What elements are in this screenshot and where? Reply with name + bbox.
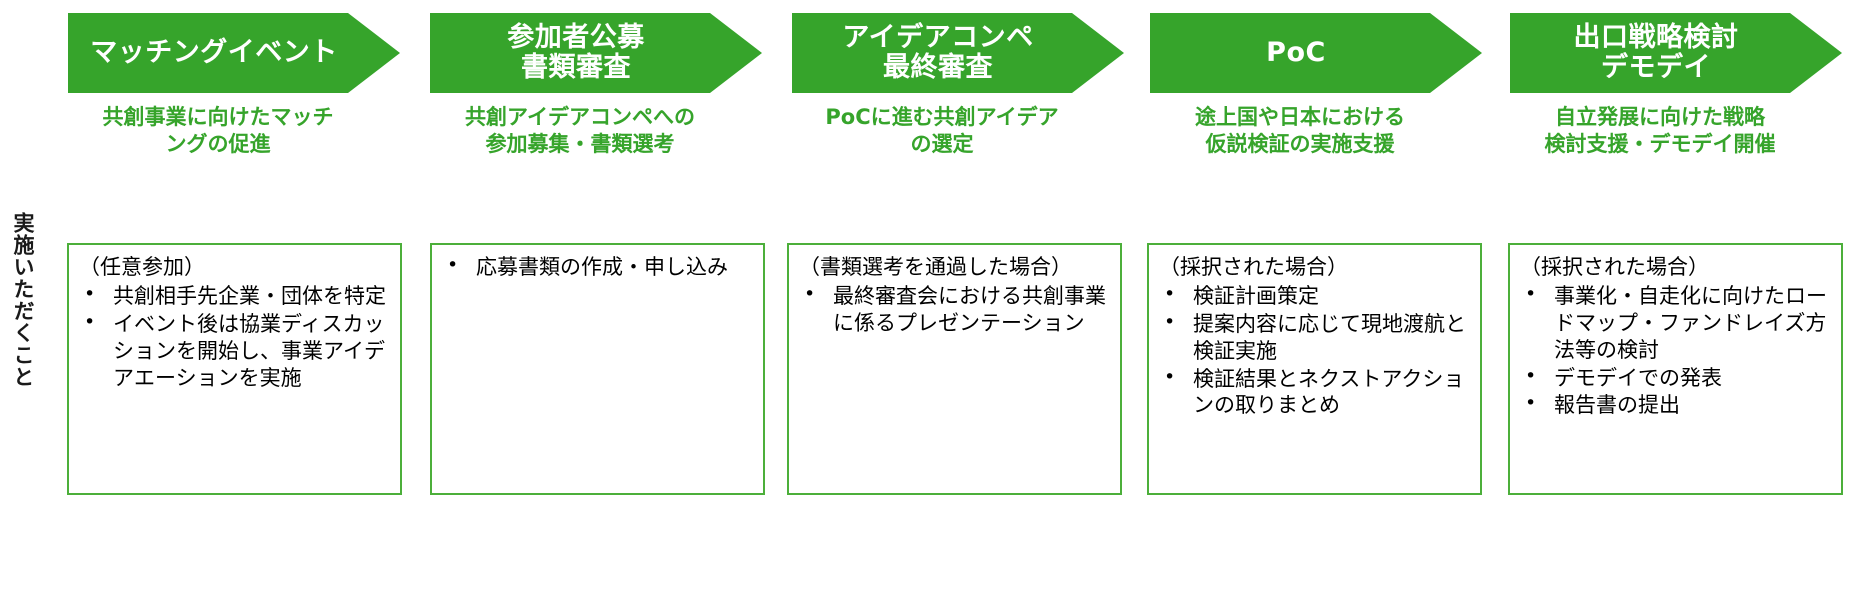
list-item: 提案内容に応じて現地渡航と検証実施 (1159, 311, 1474, 365)
list-item: 検証計画策定 (1159, 283, 1474, 310)
list-item: 報告書の提出 (1520, 392, 1835, 419)
process-flow-diagram: マッチングイベント 参加者公募 書類審査 アイデアコンペ 最終審査 PoC 出口… (0, 0, 1855, 602)
stage-content-box-1: （任意参加） 共創相手先企業・団体を特定 イベント後は協業ディスカッションを開始… (67, 243, 402, 495)
list-item: 事業化・自走化に向けたロードマップ・ファンドレイズ方法等の検討 (1520, 283, 1835, 364)
stage-chevron-label-1: マッチングイベント (90, 38, 378, 68)
stage-item-list-1: 共創相手先企業・団体を特定 イベント後は協業ディスカッションを開始し、事業アイデ… (79, 283, 394, 392)
list-item: 最終審査会における共創事業に係るプレゼンテーション (799, 283, 1114, 337)
stage-chevron-label-2: 参加者公募 書類審査 (507, 23, 685, 83)
stage-chevron-label-4: PoC (1266, 38, 1366, 68)
stage-subtitle-2: 共創アイデアコンペへの 参加募集・書類選考 (430, 104, 730, 159)
stage-subtitle-5: 自立発展に向けた戦略 検討支援・デモデイ開催 (1510, 104, 1810, 159)
stage-subtitle-3: PoCに進む共創アイデア の選定 (792, 104, 1092, 159)
list-item: 検証結果とネクストアクションの取りまとめ (1159, 366, 1474, 420)
stage-chevron-label-3: アイデアコンペ 最終審査 (842, 23, 1073, 83)
list-item: イベント後は協業ディスカッションを開始し、事業アイデアエーションを実施 (79, 311, 394, 392)
stage-chevron-1[interactable]: マッチングイベント (68, 13, 400, 93)
stage-content-box-5: （採択された場合） 事業化・自走化に向けたロードマップ・ファンドレイズ方法等の検… (1508, 243, 1843, 495)
stage-item-list-4: 検証計画策定 提案内容に応じて現地渡航と検証実施 検証結果とネクストアクションの… (1159, 283, 1474, 419)
stage-header-row: マッチングイベント 参加者公募 書類審査 アイデアコンペ 最終審査 PoC 出口… (0, 13, 1855, 93)
list-item: 共創相手先企業・団体を特定 (79, 283, 394, 310)
stage-lead-5: （採択された場合） (1520, 254, 1835, 281)
list-item: デモデイでの発表 (1520, 365, 1835, 392)
list-item: 応募書類の作成・申し込み (442, 254, 757, 281)
stage-subtitle-4: 途上国や日本における 仮説検証の実施支援 (1150, 104, 1450, 159)
stage-item-list-2: 応募書類の作成・申し込み (442, 254, 757, 281)
stage-item-list-3: 最終審査会における共創事業に係るプレゼンテーション (799, 283, 1114, 337)
stage-chevron-label-5: 出口戦略検討 デモデイ (1574, 23, 1779, 83)
row-label-activities: 実施いただくこと (2, 212, 36, 388)
stage-chevron-5[interactable]: 出口戦略検討 デモデイ (1510, 13, 1842, 93)
stage-chevron-3[interactable]: アイデアコンペ 最終審査 (792, 13, 1124, 93)
stage-lead-4: （採択された場合） (1159, 254, 1474, 281)
stage-content-box-4: （採択された場合） 検証計画策定 提案内容に応じて現地渡航と検証実施 検証結果と… (1147, 243, 1482, 495)
stage-lead-3: （書類選考を通過した場合） (799, 254, 1114, 281)
stage-item-list-5: 事業化・自走化に向けたロードマップ・ファンドレイズ方法等の検討 デモデイでの発表… (1520, 283, 1835, 419)
stage-chevron-4[interactable]: PoC (1150, 13, 1482, 93)
stage-content-box-2: 応募書類の作成・申し込み (430, 243, 765, 495)
stage-subtitle-1: 共創事業に向けたマッチ ングの促進 (68, 104, 368, 159)
stage-lead-1: （任意参加） (79, 254, 394, 281)
stage-content-box-3: （書類選考を通過した場合） 最終審査会における共創事業に係るプレゼンテーション (787, 243, 1122, 495)
stage-chevron-2[interactable]: 参加者公募 書類審査 (430, 13, 762, 93)
